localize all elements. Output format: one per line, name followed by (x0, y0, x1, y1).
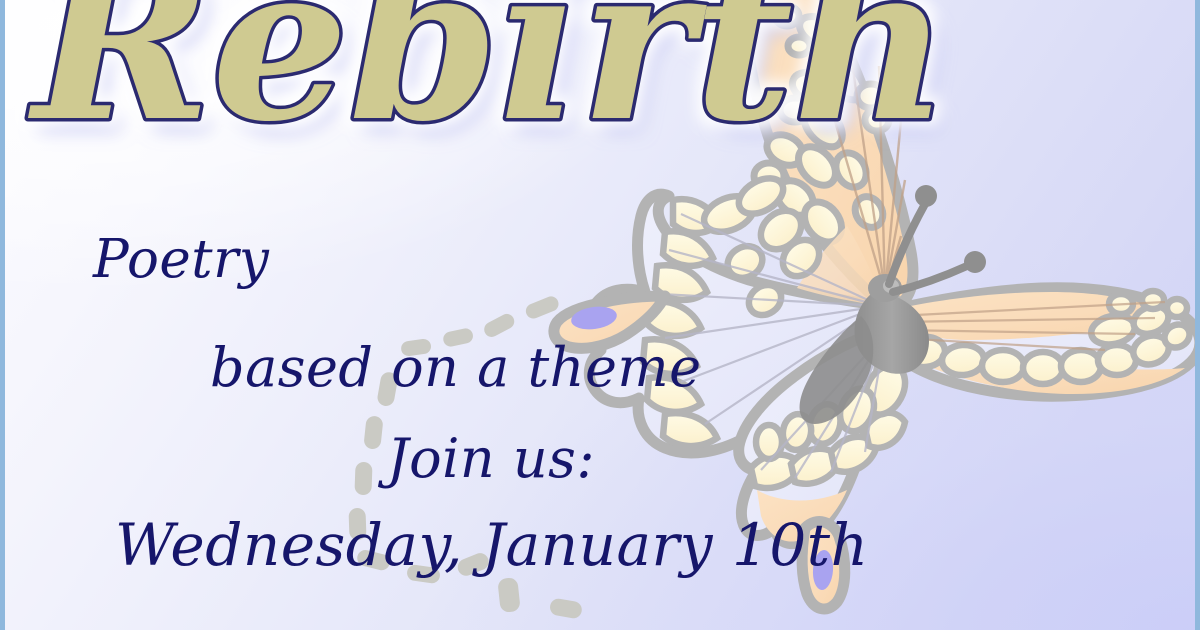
poster-title-wrap: Rebirth Rebirth Rebirth (23, 0, 783, 182)
poster-canvas: Rebirth Rebirth Rebirth Poetry based on … (0, 0, 1200, 630)
title-layer: Rebirth Rebirth Rebirth (5, 0, 1200, 630)
poster-title: Rebirth (27, 0, 949, 169)
